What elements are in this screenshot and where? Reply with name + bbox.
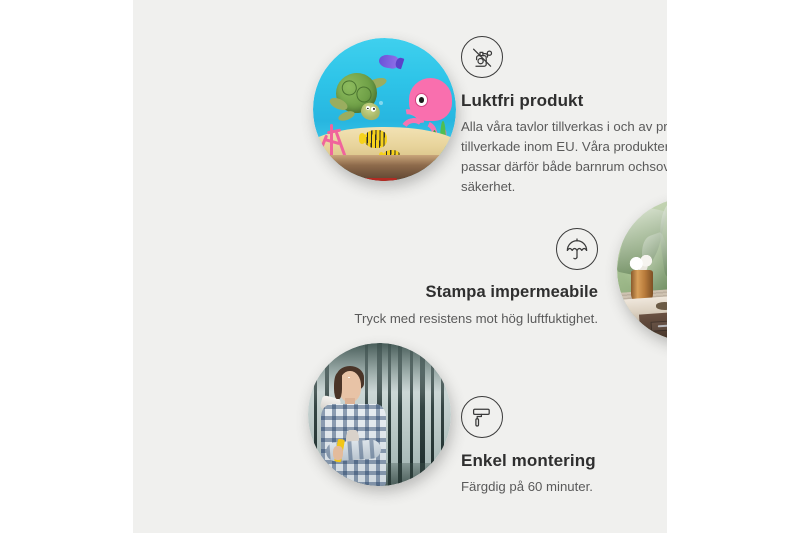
content-panel: Luktfri produkt Alla våra tavlor tillver…	[133, 0, 667, 533]
feature-description: Färgdig på 60 minuter.	[461, 477, 667, 497]
soap-dish	[656, 302, 667, 309]
sea-floor-object	[350, 178, 397, 180]
person-with-paint-roller	[317, 369, 391, 486]
coral-branch	[327, 128, 341, 134]
turtle-icon	[327, 69, 391, 126]
hand	[333, 446, 343, 460]
feature-easy-mounting: Enkel montering Färgdig på 60 minuter.	[461, 396, 667, 497]
hair	[334, 373, 341, 399]
feature-description: Tryck med resistens mot hög luftfuktighe…	[348, 309, 598, 329]
bathroom-photo	[617, 198, 667, 341]
paint-roller-icon	[461, 396, 503, 438]
feature-odour-free: Luktfri produkt Alla våra tavlor tillver…	[461, 36, 667, 198]
turtle-eye	[370, 106, 376, 112]
forest-photo	[308, 343, 451, 486]
medallion-forest	[308, 343, 451, 486]
sea-floor	[313, 155, 456, 181]
octopus-head	[409, 78, 452, 121]
umbrella-icon	[556, 228, 598, 270]
turtle-eye	[365, 105, 370, 110]
no-fragrance-icon	[461, 36, 503, 78]
medallion-sealife	[313, 38, 456, 181]
octopus-eye	[415, 93, 428, 107]
face	[339, 371, 361, 401]
feature-title: Stampa impermeabile	[348, 282, 598, 303]
feature-description: Alla våra tavlor tillverkas i och av pro…	[461, 117, 667, 197]
yellow-fish-icon	[364, 130, 387, 149]
medallion-bathroom	[617, 198, 667, 341]
feature-title: Enkel montering	[461, 450, 667, 471]
feature-title: Luktfri produkt	[461, 90, 667, 111]
feature-waterproof-print: Stampa impermeabile Tryck med resistens …	[348, 228, 598, 329]
sealife-illustration	[313, 38, 456, 181]
smile	[348, 377, 351, 378]
